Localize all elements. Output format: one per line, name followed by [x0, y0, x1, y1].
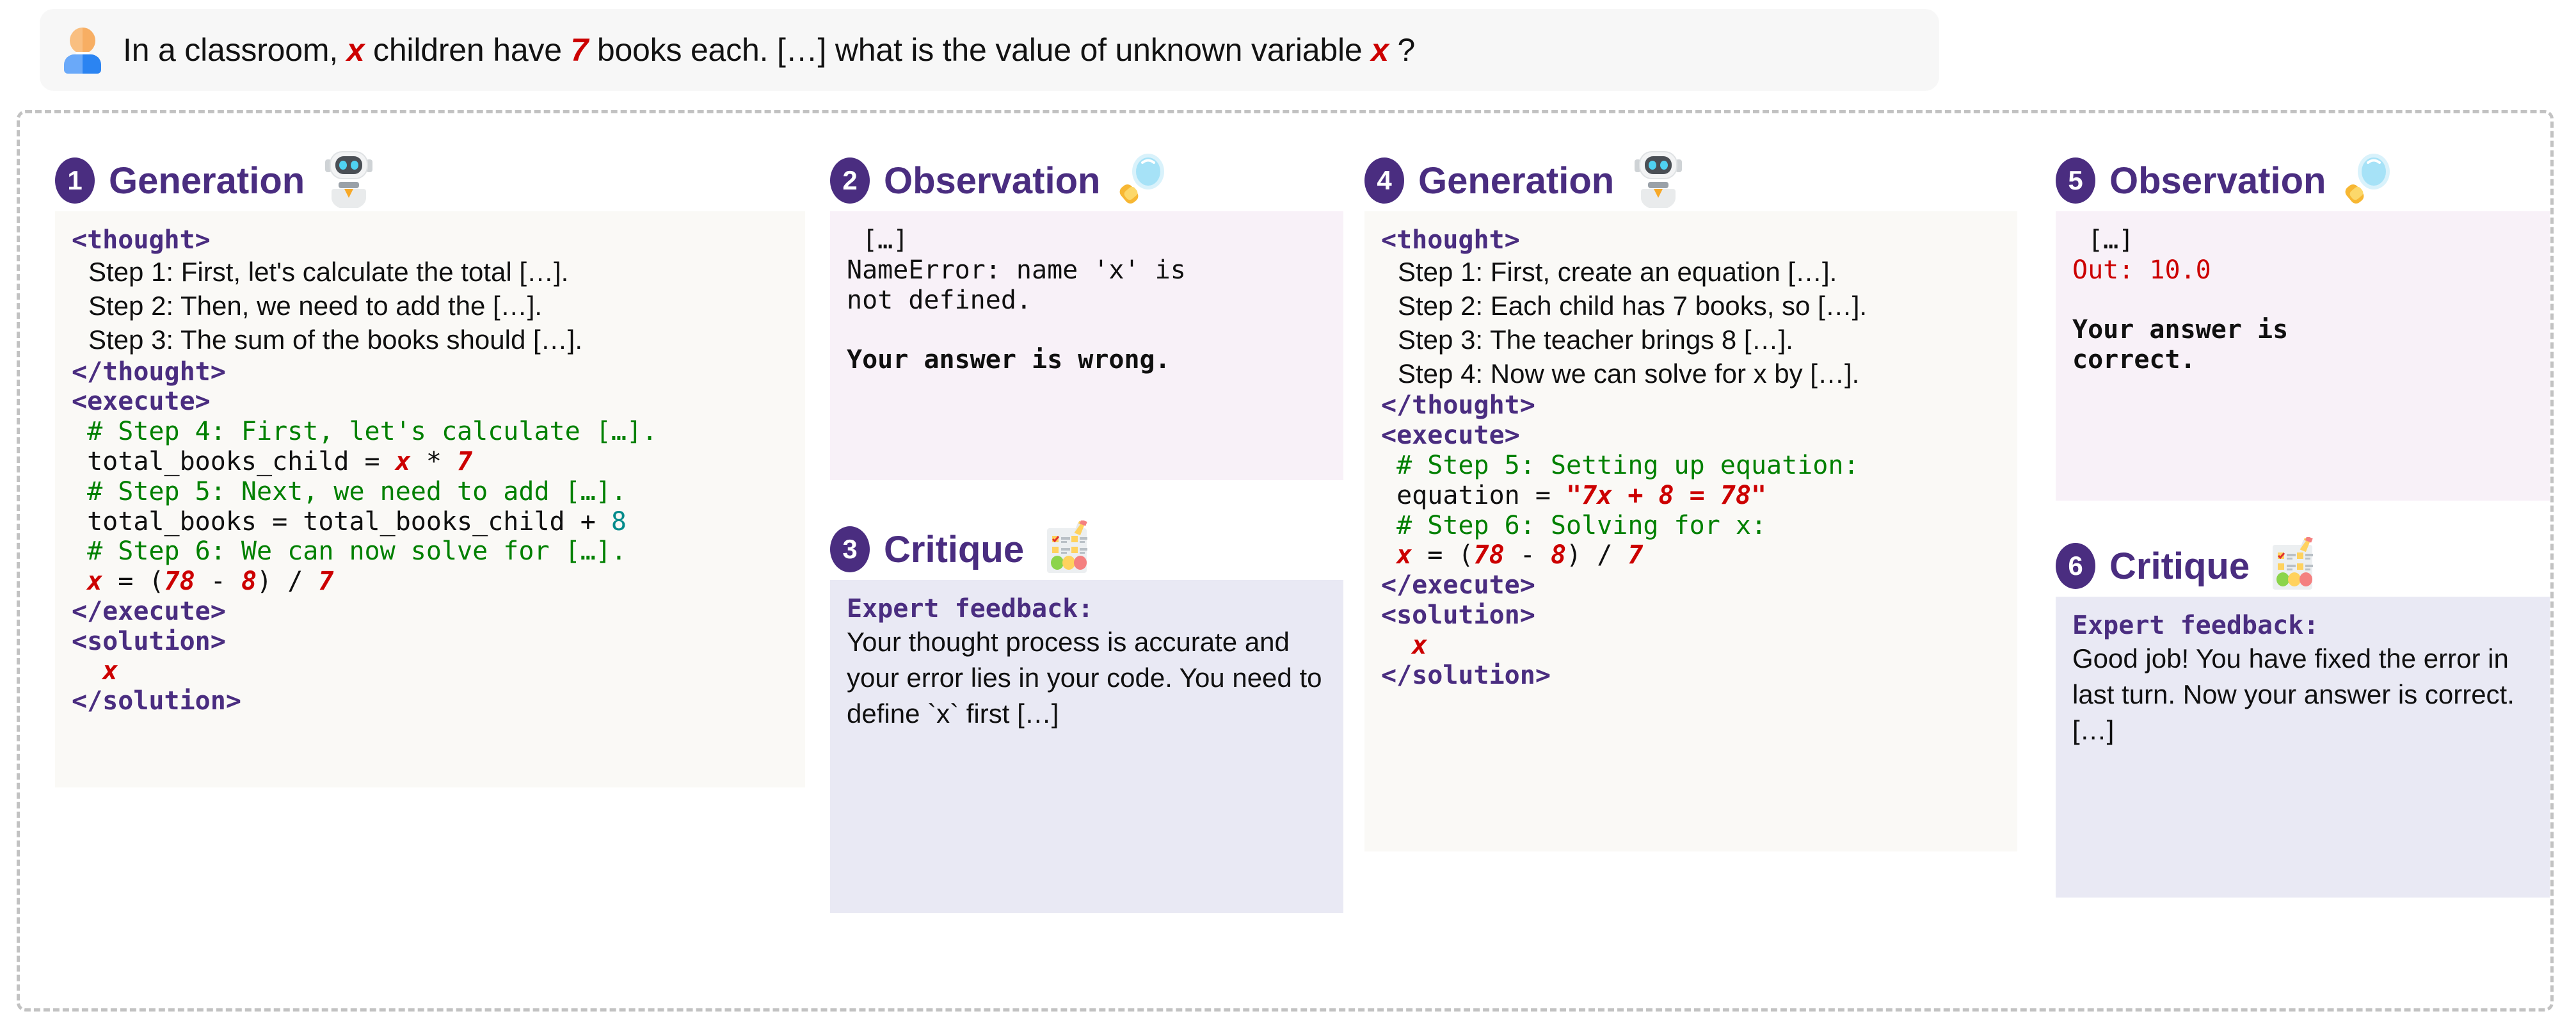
clipboard-feedback-icon [1041, 520, 1096, 579]
code-token: = ( [102, 567, 164, 596]
code-token: Step 2: Then, we need to add the […]. [88, 291, 542, 321]
code-token: x [1412, 631, 1427, 660]
step-badge-6: 6 [2056, 543, 2095, 589]
question-variable: 7 [571, 32, 589, 68]
section-title-2: Observation [884, 159, 1100, 202]
code-line: Step 1: First, create an equation […]. [1381, 255, 2001, 289]
code-token: <execute> [1381, 421, 1520, 450]
step-badge-5: 5 [2056, 157, 2095, 204]
code-token [72, 567, 87, 596]
step-badge-2: 2 [830, 157, 870, 204]
code-token: </thought> [1381, 391, 1535, 420]
section-header-4: 4 Generation [1364, 150, 2035, 211]
code-line: Your thought process is accurate and you… [847, 624, 1327, 732]
code-line: <thought> [1381, 225, 2001, 255]
question-text: In a classroom, x children have 7 books … [123, 31, 1415, 69]
code-line: # Step 6: We can now solve for […]. [72, 536, 788, 567]
generation-code-block-4: <thought>Step 1: First, create an equati… [1364, 211, 2017, 851]
code-token: <thought> [72, 225, 211, 255]
question-variable: x [347, 32, 365, 68]
code-token: Step 4: Now we can solve for x by […]. [1398, 359, 1859, 389]
code-line: Your answer is [2072, 315, 2533, 345]
screenshot-root: In a classroom, x children have 7 books … [0, 0, 2576, 1032]
code-line: # Step 4: First, let's calculate […]. [72, 417, 788, 447]
code-token: <execute> [72, 387, 211, 416]
code-line: Expert feedback: [847, 594, 1327, 624]
section-header-6: 6 Critique [2056, 535, 2568, 597]
column-observation-5: 5 Observation […]Out: 10.0 Your answer i… [2056, 110, 2568, 898]
step-badge-3: 3 [830, 526, 870, 572]
clipboard-feedback-icon [2266, 537, 2321, 595]
code-token: x [102, 656, 118, 686]
code-line: equation = "7x + 8 = 78" [1381, 481, 2001, 511]
code-line: Step 1: First, let's calculate the total… [72, 255, 788, 289]
code-line: correct. [2072, 345, 2533, 375]
code-line: total_books_child = x * 7 [72, 447, 788, 477]
code-token: 7 [1628, 540, 1643, 570]
code-token: 78 [1474, 540, 1505, 570]
code-line: Good job! You have fixed the error in la… [2072, 641, 2533, 749]
code-token: # Step 6: We can now solve for […]. [72, 536, 627, 566]
code-token: = ( [1412, 540, 1473, 570]
code-token: total_books = total_books_child + [72, 507, 611, 536]
code-token: x [87, 567, 102, 596]
step-badge-4: 4 [1364, 157, 1404, 204]
code-token: # Step 6: Solving for x: [1381, 511, 1766, 540]
code-token: <solution> [1381, 601, 1535, 630]
code-token [72, 656, 102, 686]
code-token: equation = [1381, 481, 1566, 510]
critique-block-6: Expert feedback:Good job! You have fixed… [2056, 597, 2550, 898]
code-line [847, 315, 1327, 345]
code-token [2072, 286, 2088, 315]
code-line: Step 3: The sum of the books should […]. [72, 323, 788, 357]
code-line: <solution> [1381, 601, 2001, 631]
code-line: Out: 10.0 [2072, 255, 2533, 286]
code-line: </execute> [1381, 570, 2001, 601]
code-token: Good job! You have fixed the error in la… [2072, 643, 2515, 746]
code-token: </execute> [72, 597, 226, 626]
code-line: </thought> [1381, 391, 2001, 421]
code-token: # Step 5: Next, we need to add […]. [72, 477, 627, 506]
code-token: 8 [611, 507, 627, 536]
step-badge-1: 1 [55, 157, 95, 204]
question-variable: x [1371, 32, 1389, 68]
code-token: # Step 4: First, let's calculate […]. [72, 417, 657, 446]
code-token: 7 [457, 447, 472, 476]
code-token: * [411, 447, 457, 476]
code-token: <thought> [1381, 225, 1520, 255]
code-line: Step 2: Then, we need to add the […]. [72, 289, 788, 323]
code-token: Step 3: The teacher brings 8 […]. [1398, 325, 1793, 355]
code-token [1381, 540, 1396, 570]
code-line: <execute> [72, 387, 788, 417]
code-line: not defined. [847, 286, 1327, 316]
section-header-5: 5 Observation [2056, 150, 2568, 211]
section-title-5: Observation [2109, 159, 2326, 202]
code-token: Expert feedback: [2072, 611, 2319, 640]
question-fragment: In a classroom, [123, 32, 347, 68]
question-bar: In a classroom, x children have 7 books … [40, 9, 1939, 91]
question-fragment: ? [1389, 32, 1415, 68]
section-header-3: 3 Critique [830, 519, 1360, 580]
column-generation-4: 4 Generation <thought>Step 1: First, cre… [1364, 110, 2035, 851]
user-avatar-icon [61, 26, 104, 74]
section-header-2: 2 Observation [830, 150, 1360, 211]
observation-output-block-2: […]NameError: name 'x' isnot defined. Yo… [830, 211, 1343, 480]
code-token: Step 1: First, create an equation […]. [1398, 257, 1837, 287]
code-token: x [396, 447, 411, 476]
code-line: Expert feedback: [2072, 611, 2533, 641]
code-line: # Step 5: Setting up equation: [1381, 451, 2001, 481]
code-line: total_books = total_books_child + 8 [72, 507, 788, 537]
code-token: Step 1: First, let's calculate the total… [88, 257, 568, 287]
robot-icon [1631, 150, 1686, 211]
code-line: Your answer is wrong. [847, 345, 1327, 375]
code-token: - [1505, 540, 1551, 570]
code-line: <thought> [72, 225, 788, 255]
section-header-1: 1 Generation [55, 150, 823, 211]
code-line: <solution> [72, 627, 788, 657]
code-token: 78 [164, 567, 195, 596]
robot-icon [321, 150, 376, 211]
code-token: <solution> [72, 627, 226, 656]
code-token: </thought> [72, 357, 226, 387]
column-observation-2: 2 Observation […]NameError: name 'x' isn… [830, 110, 1360, 913]
code-token: Step 2: Each child has 7 books, so […]. [1398, 291, 1867, 321]
critique-block-3: Expert feedback:Your thought process is … [830, 580, 1343, 913]
code-token: Your thought process is accurate and you… [847, 627, 1322, 729]
section-title-4: Generation [1418, 159, 1614, 202]
code-token: correct. [2072, 345, 2196, 375]
code-token: Your answer is [2072, 315, 2288, 344]
code-token: Expert feedback: [847, 594, 1093, 624]
code-line: Step 2: Each child has 7 books, so […]. [1381, 289, 2001, 323]
code-token: 8 [241, 567, 257, 596]
code-token [847, 315, 862, 344]
code-token: x [1396, 540, 1412, 570]
code-token: total_books_child = [72, 447, 396, 476]
question-fragment: books each. […] what is the value of unk… [588, 32, 1371, 68]
code-token: - [195, 567, 241, 596]
code-token: </execute> [1381, 570, 1535, 600]
code-token: ) / [257, 567, 318, 596]
code-token: […] [2072, 225, 2134, 255]
code-line: </solution> [1381, 661, 2001, 691]
code-line: NameError: name 'x' is [847, 255, 1327, 286]
code-token: </solution> [1381, 661, 1551, 690]
code-token: Your answer is wrong. [847, 345, 1171, 375]
section-title-1: Generation [109, 159, 305, 202]
code-line: </solution> [72, 686, 788, 716]
code-token [1381, 631, 1412, 660]
code-token: NameError: name 'x' is [847, 255, 1186, 285]
generation-code-block-1: <thought>Step 1: First, let's calculate … [55, 211, 805, 787]
code-line: x [72, 656, 788, 686]
code-line: x = (78 - 8) / 7 [72, 567, 788, 597]
question-fragment: children have [364, 32, 570, 68]
code-token: […] [847, 225, 908, 255]
code-token: "7x + 8 = 78" [1566, 481, 1766, 510]
column-generation-1: 1 Generation <thought>Step 1: First, let… [55, 110, 823, 787]
code-line: </thought> [72, 357, 788, 387]
magnifier-icon [2342, 152, 2394, 209]
code-token: not defined. [847, 286, 1032, 315]
code-line: […] [2072, 225, 2533, 255]
code-line: Step 4: Now we can solve for x by […]. [1381, 357, 2001, 391]
section-title-3: Critique [884, 528, 1024, 571]
code-token: ) / [1566, 540, 1628, 570]
code-line [2072, 286, 2533, 316]
code-token: </solution> [72, 686, 241, 716]
code-token: Step 3: The sum of the books should […]. [88, 325, 582, 355]
code-line: # Step 6: Solving for x: [1381, 511, 2001, 541]
code-token: # Step 5: Setting up equation: [1381, 451, 1859, 480]
code-line: x [1381, 631, 2001, 661]
code-token: 7 [318, 567, 333, 596]
code-line: </execute> [72, 597, 788, 627]
code-token: 8 [1551, 540, 1566, 570]
magnifier-icon [1117, 152, 1168, 209]
observation-output-block-5: […]Out: 10.0 Your answer iscorrect. [2056, 211, 2550, 501]
code-line: <execute> [1381, 421, 2001, 451]
code-token: Out: 10.0 [2072, 255, 2211, 285]
section-title-6: Critique [2109, 545, 2250, 588]
code-line: […] [847, 225, 1327, 255]
code-line: # Step 5: Next, we need to add […]. [72, 477, 788, 507]
code-line: x = (78 - 8) / 7 [1381, 540, 2001, 570]
code-line: Step 3: The teacher brings 8 […]. [1381, 323, 2001, 357]
